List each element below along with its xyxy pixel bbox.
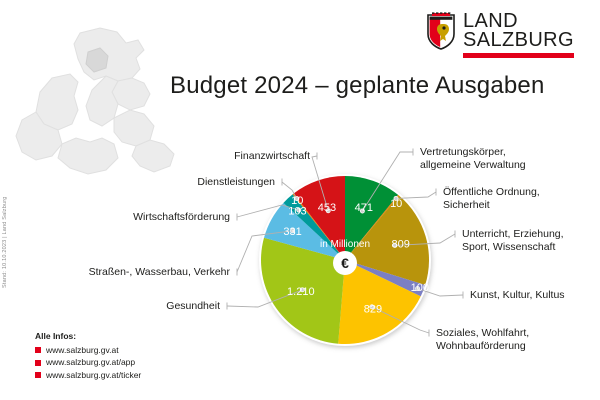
info-link-row[interactable]: www.salzburg.gv.at <box>35 345 141 357</box>
callout-label: Soziales, Wohlfahrt, Wohnbauförderung <box>436 327 576 352</box>
all-info-block: Alle Infos: www.salzburg.gv.at www.salzb… <box>35 331 141 381</box>
info-link[interactable]: www.salzburg.gv.at/ticker <box>46 370 141 382</box>
callout-label: Öffentliche Ordnung, Sicherheit <box>443 186 583 211</box>
callout-label: Vertretungskörper, allgemeine Verwaltung <box>420 146 570 171</box>
euro-symbol: € <box>341 255 349 271</box>
info-link[interactable]: www.salzburg.gv.at <box>46 345 119 357</box>
slice-value: 103 <box>288 206 306 218</box>
bullet-square-icon <box>35 360 41 366</box>
bullet-square-icon <box>35 347 41 353</box>
slice-value: 1.210 <box>287 286 315 298</box>
infographic-canvas: LAND SALZBURG Budget 2024 – geplante Aus… <box>0 0 600 400</box>
callout-label: Unterricht, Erziehung, Sport, Wissenscha… <box>462 228 594 253</box>
slice-value: 10 <box>390 198 402 210</box>
slice-value: 100 <box>411 282 429 294</box>
callout-label: Dienstleistungen <box>160 176 275 189</box>
center-caption: in Millionen <box>320 239 370 250</box>
source-credit: Stand: 10.10.2023 | Land Salzburg <box>2 196 8 288</box>
info-link[interactable]: www.salzburg.gv.at/app <box>46 357 135 369</box>
callout-label: Finanzwirtschaft <box>200 150 310 163</box>
slice-value: 471 <box>355 202 373 214</box>
slice-value: 829 <box>364 304 382 316</box>
callout-label: Gesundheit <box>110 300 220 313</box>
bullet-square-icon <box>35 372 41 378</box>
all-info-heading: Alle Infos: <box>35 331 141 343</box>
callout-label: Wirtschaftsförderung <box>95 211 230 224</box>
slice-value: 331 <box>283 226 301 238</box>
info-link-row[interactable]: www.salzburg.gv.at/app <box>35 357 141 369</box>
slice-value: 809 <box>392 239 410 251</box>
slice-value: 453 <box>318 202 336 214</box>
slice-value: 10 <box>291 195 303 207</box>
callout-label: Kunst, Kultur, Kultus <box>470 289 590 302</box>
callout-label: Straßen-, Wasserbau, Verkehr <box>75 266 230 279</box>
info-link-row[interactable]: www.salzburg.gv.at/ticker <box>35 370 141 382</box>
